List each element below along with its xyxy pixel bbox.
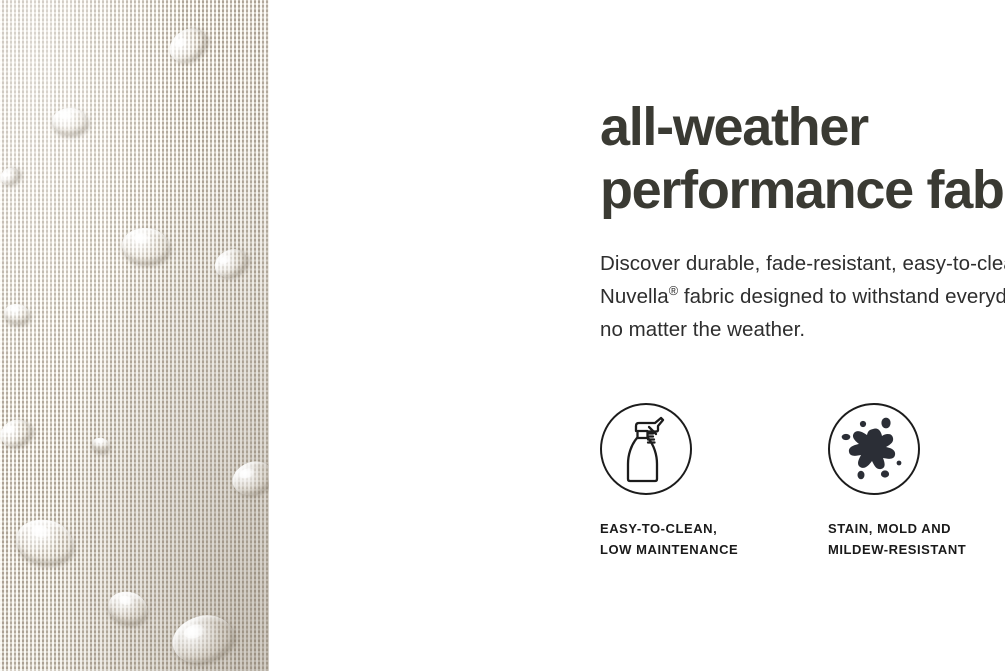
headline-line-1: all-weather xyxy=(600,96,1005,159)
description-line-2-rest: fabric designed to withstand everyday li… xyxy=(678,285,1005,308)
feature-item-easy-to-clean: EASY-TO-CLEAN, LOW MAINTENANCE xyxy=(600,403,815,560)
feature-label-line-2: LOW MAINTENANCE xyxy=(600,540,815,561)
page-title: all-weather performance fabric xyxy=(600,96,1005,221)
all-weather-fabric-promo: all-weather performance fabric Discover … xyxy=(0,0,1005,671)
stain-splatter-icon xyxy=(828,403,920,495)
description-line-2: Nuvella® fabric designed to withstand ev… xyxy=(600,280,1005,313)
headline-line-2: performance fabric xyxy=(600,159,1005,222)
brand-name: Nuvella xyxy=(600,285,669,308)
registered-mark: ® xyxy=(669,283,678,298)
feature-label-easy-to-clean: EASY-TO-CLEAN, LOW MAINTENANCE xyxy=(600,519,815,560)
feature-label-stain-resistant: STAIN, MOLD AND MILDEW-RESISTANT xyxy=(828,519,1005,560)
feature-label-line-2: MILDEW-RESISTANT xyxy=(828,540,1005,561)
description-line-1: Discover durable, fade-resistant, easy-t… xyxy=(600,247,1005,280)
description-line-3: no matter the weather. xyxy=(600,313,1005,346)
fabric-lighting-overlay xyxy=(0,0,269,671)
feature-label-line-1: STAIN, MOLD AND xyxy=(828,519,1005,540)
spray-bottle-icon xyxy=(600,403,692,495)
content-pane: all-weather performance fabric Discover … xyxy=(269,0,1005,671)
feature-item-stain-resistant: STAIN, MOLD AND MILDEW-RESISTANT xyxy=(828,403,1005,560)
description-text: Discover durable, fade-resistant, easy-t… xyxy=(600,247,1005,347)
fabric-water-droplets-photo xyxy=(0,0,269,671)
feature-label-line-1: EASY-TO-CLEAN, xyxy=(600,519,815,540)
